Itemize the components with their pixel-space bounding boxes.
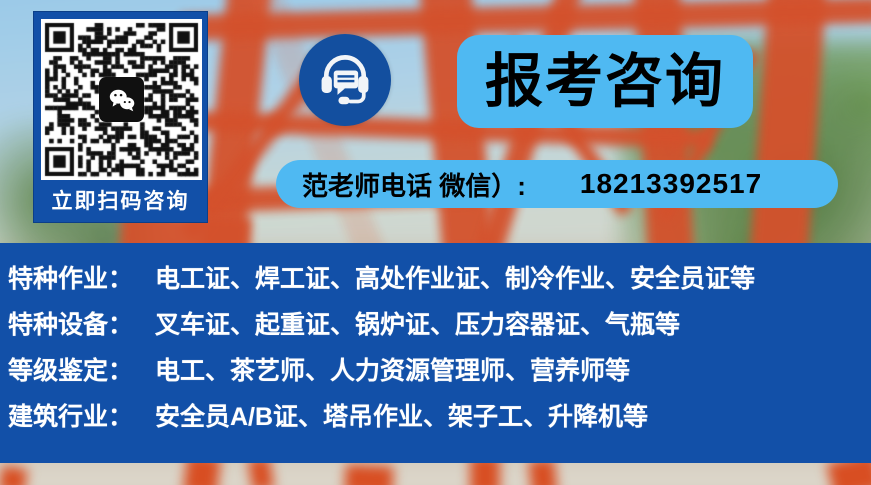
contact-phone-number[interactable]: 18213392517 xyxy=(580,168,762,200)
contact-pill[interactable]: 范老师电话 微信）: 18213392517 xyxy=(276,160,838,208)
qr-card[interactable]: 立即扫码咨询 xyxy=(33,11,208,223)
bottom-strip-beam xyxy=(183,463,222,485)
info-row-label: 特种作业： xyxy=(8,259,155,295)
bottom-strip-beam xyxy=(470,463,500,485)
info-row-value: 电工、茶艺师、人力资源管理师、营养师等 xyxy=(155,351,630,387)
bottom-strip-beam xyxy=(0,465,28,485)
headline-text: 报考咨询 xyxy=(485,53,725,111)
info-row: 建筑行业： 安全员A/B证、塔吊作业、架子工、升降机等 xyxy=(0,397,871,443)
bottom-photo-strip xyxy=(0,463,871,485)
info-row-label: 特种设备： xyxy=(8,305,155,341)
bottom-strip-beam xyxy=(344,464,394,485)
headset-chat-icon xyxy=(315,48,375,113)
info-row-label: 建筑行业： xyxy=(8,397,155,433)
info-row: 特种设备： 叉车证、起重证、锅炉证、压力容器证、气瓶等 xyxy=(0,305,871,351)
wechat-logo-icon xyxy=(99,77,144,122)
info-row-value: 安全员A/B证、塔吊作业、架子工、升降机等 xyxy=(155,397,648,433)
info-row-label: 等级鉴定： xyxy=(8,351,155,387)
bottom-strip-beam xyxy=(826,463,871,485)
bottom-strip-beam xyxy=(528,463,558,485)
qr-card-label: 立即扫码咨询 xyxy=(41,180,200,223)
contact-label: 范老师电话 微信）: xyxy=(302,166,526,203)
bottom-strip-ground xyxy=(0,463,871,485)
poster-root: 立即扫码咨询 报考咨询 范老师电话 微信）: 18213392517 xyxy=(0,0,871,485)
headset-badge xyxy=(299,34,391,126)
info-row-value: 叉车证、起重证、锅炉证、压力容器证、气瓶等 xyxy=(155,305,680,341)
bottom-strip-beam xyxy=(247,463,274,485)
info-row: 特种作业： 电工证、焊工证、高处作业证、制冷作业、安全员证等 xyxy=(0,259,871,305)
qr-code-image[interactable] xyxy=(41,19,202,180)
info-row: 等级鉴定： 电工、茶艺师、人力资源管理师、营养师等 xyxy=(0,351,871,397)
info-panel: 特种作业： 电工证、焊工证、高处作业证、制冷作业、安全员证等 特种设备： 叉车证… xyxy=(0,243,871,463)
info-row-value: 电工证、焊工证、高处作业证、制冷作业、安全员证等 xyxy=(155,259,755,295)
headline-pill: 报考咨询 xyxy=(457,35,753,128)
